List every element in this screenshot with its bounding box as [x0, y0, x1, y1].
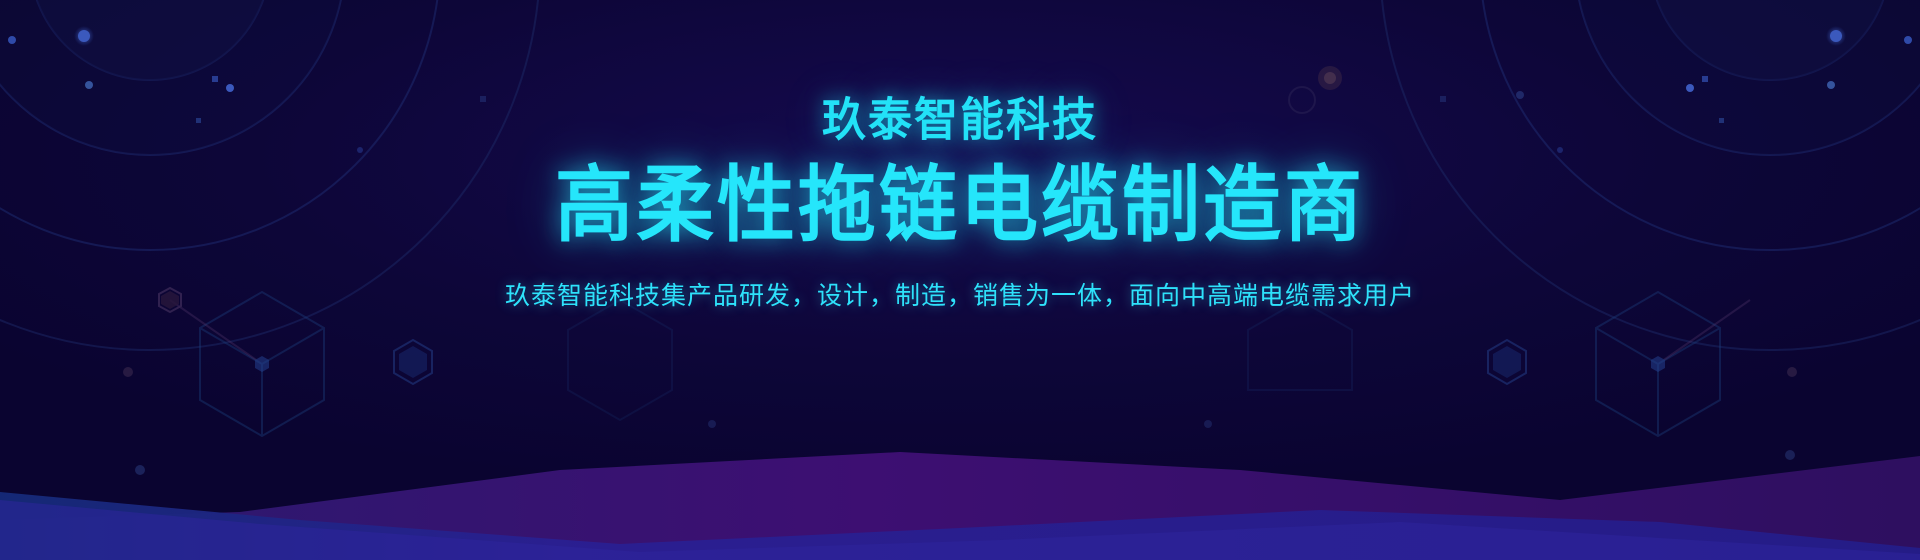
- brand-name: 玖泰智能科技: [822, 95, 1098, 146]
- banner-content: 玖泰智能科技 高柔性拖链电缆制造商 玖泰智能科技集产品研发，设计，制造，销售为一…: [0, 0, 1920, 560]
- page-title: 高柔性拖链电缆制造商: [555, 161, 1365, 252]
- hero-banner: 玖泰智能科技 高柔性拖链电缆制造商 玖泰智能科技集产品研发，设计，制造，销售为一…: [0, 0, 1920, 560]
- tagline: 玖泰智能科技集产品研发，设计，制造，销售为一体，面向中高端电缆需求用户: [505, 279, 1415, 314]
